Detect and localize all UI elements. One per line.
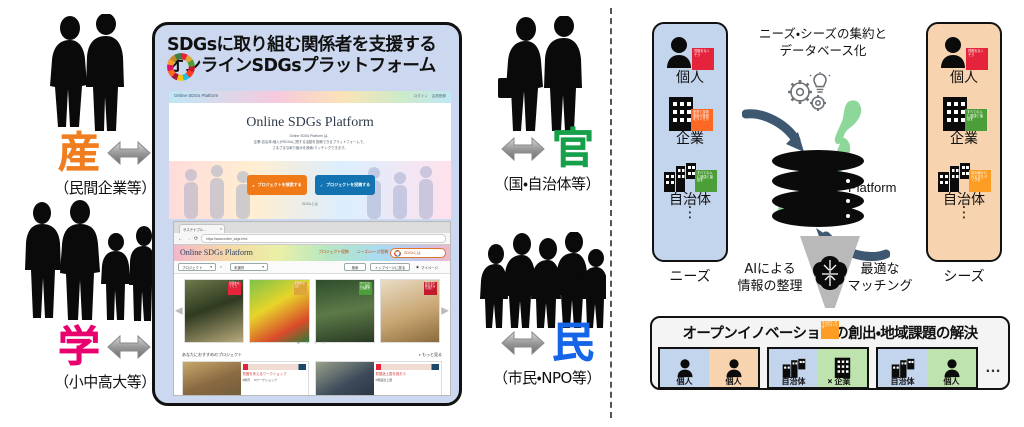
stakeholder-kanji: 民 <box>552 322 594 364</box>
person-icon <box>675 358 695 378</box>
platform-label: Platform <box>848 180 896 195</box>
search-button[interactable]: 検索 <box>344 263 366 271</box>
pair-right: 個人 <box>927 349 976 387</box>
section-divider <box>610 8 612 418</box>
sdg-badge: 住み続けられるまちづくりを <box>969 170 991 192</box>
site-nav: プロジェクト投稿 ニーズ・シーズ投稿 <box>318 250 388 255</box>
nav-item-needs-seeds-post[interactable]: ニーズ・シーズ投稿 <box>357 250 388 255</box>
needs-column: 貧困をなくそう 個人 産業と技術革新の基盤をつくろう 企業 <box>652 22 728 262</box>
stakeholder-min: 民 （市民・NPO等） <box>472 322 622 388</box>
recommended-tags: #教育 #ワークショップ <box>243 378 307 382</box>
sdg-badge: 産業と技術革新の基盤をつくろう <box>691 109 713 131</box>
ai-label-line-1: AIによる <box>722 262 818 279</box>
filter-type-select[interactable]: プロジェクト ▾ <box>178 263 216 271</box>
cross-separator: × <box>220 264 222 269</box>
magnifier-icon: ⌕ <box>419 352 421 357</box>
recommended-thumbnail <box>183 362 241 396</box>
double-headed-arrow-icon <box>106 140 152 166</box>
pair-card[interactable]: 自治体 個人 住み続けられるまちづくりを × <box>876 347 978 389</box>
chevron-left-icon[interactable]: ◀ <box>175 306 183 317</box>
stakeholder-kan: 官 （国・自治体等） <box>472 128 622 194</box>
pair-left: 自治体 <box>769 349 818 387</box>
hero-brand: Online SDGs Platform <box>174 93 218 98</box>
actor-municipality: 住み続けられるまちづくりを 自治体 <box>937 154 991 207</box>
hero-post-button[interactable]: ✓ プロジェクトを投稿する <box>315 175 375 195</box>
actor-company: 産業と技術革新の基盤をつくろう 企業 <box>667 93 713 146</box>
hero-screenshot: Online SDGs Platform ログイン 会員登録 Online SD… <box>169 91 451 219</box>
pair-ellipsis: … <box>985 359 1002 377</box>
city-icon <box>937 162 971 192</box>
sdg-info-label: SDGsとは <box>404 251 421 256</box>
hero-subtitle: Online SDGs Platform は、 企業・自治体・個人がSDGsに関… <box>169 133 451 151</box>
double-headed-arrow-icon <box>500 136 546 162</box>
hero-nav: ログイン 会員登録 <box>414 94 446 99</box>
silhouette-family-people <box>22 200 158 322</box>
silhouette-business-people <box>38 14 142 132</box>
url-input[interactable]: https://www.online_sdgs.html <box>201 234 446 243</box>
browser-window: サステナブル… × ← → ⟳ https://www.online_sdgs.… <box>173 221 451 396</box>
carousel-card[interactable]: すべての人に健康と福祉を <box>315 279 375 343</box>
stakeholder-sublabel: （小中高大等） <box>54 371 156 392</box>
pair-right-label: 個人 <box>726 378 742 386</box>
back-arrow-icon[interactable]: ← <box>178 236 183 242</box>
person-icon <box>942 358 962 378</box>
hero-search-label: プロジェクトを検索する <box>258 182 302 188</box>
tablet-headline: SDGsに取り組む関係者を支援する オンラインSDGsプラットフォーム <box>167 35 459 78</box>
sdg-badge: 貧困をなくそう <box>966 48 988 70</box>
pair-left: 個人 <box>660 349 709 387</box>
sdg-badge: 飢餓をゼロに <box>294 282 307 295</box>
carousel-card[interactable]: 質の高い教育をみんなに <box>380 279 440 343</box>
actor-individual: 貧困をなくそう 個人 <box>666 32 714 85</box>
chevron-down-icon: ▾ <box>210 265 212 269</box>
hero-footer-note: SDGsとは <box>169 201 451 206</box>
chevron-right-icon[interactable]: ▶ <box>441 306 449 317</box>
center-caption-line-2: データベース化 <box>738 43 908 60</box>
more-indicator: ⋮ <box>957 209 972 217</box>
actor-label: 企業 <box>950 132 978 146</box>
pair-card[interactable]: 個人 個人 貧困をなくそう × <box>658 347 760 389</box>
sdg-color-wheel-icon <box>167 53 195 81</box>
pair-left: 自治体 <box>878 349 927 387</box>
hero-search-button[interactable]: ⌕ プロジェクトを検索する <box>247 175 307 195</box>
city-icon <box>663 162 697 192</box>
ai-organize-label: AIによる 情報の整理 <box>722 262 818 296</box>
stakeholder-kanji: 学 <box>58 326 100 368</box>
headline-line-2: オンラインSDGsプラットフォーム <box>167 56 436 77</box>
browser-tab[interactable]: サステナブル… × <box>179 224 225 233</box>
carousel-card[interactable]: 飢餓をゼロに <box>249 279 309 343</box>
recommended-heading: あなたにおすすめのプロジェクト <box>182 352 242 358</box>
recommended-tags: #発展途上国 <box>376 378 440 382</box>
stakeholder-kanji: 官 <box>552 128 594 170</box>
center-caption-line-1: ニーズ・シーズの集約と <box>738 26 908 43</box>
carousel-dots[interactable]: ● ○ ○ ○ <box>174 340 450 346</box>
site-toolbar: プロジェクト ▾ × 未選択 ▾ 検索 トップページに戻る ◉ マイページ <box>174 261 450 274</box>
recommended-title: 貧困を考えるワークショップ <box>243 372 307 376</box>
building-icon <box>834 357 851 378</box>
project-carousel: ◀ ▶ 貧困をなくそう 飢餓をゼロに すべ <box>174 274 450 348</box>
silhouette-citizen-people <box>478 232 606 328</box>
sdg-badge: 貧困をなくそう <box>692 48 714 70</box>
recommended-card[interactable]: 発展途上国を救おう #発展途上国 <box>315 361 442 396</box>
pair-right-label: 個人 <box>944 378 960 386</box>
hero-title: Online SDGs Platform <box>169 115 451 131</box>
carousel-card[interactable]: 貧困をなくそう <box>184 279 244 343</box>
double-headed-arrow-icon <box>106 334 152 360</box>
headline-line-1: SDGsに取り組む関係者を支援する <box>167 35 459 56</box>
mypage-button[interactable]: ◉ マイページ <box>413 263 447 271</box>
sdg-badge: すべての人に健康と福祉を <box>359 282 372 295</box>
sdg-color-wheel-icon <box>394 250 401 257</box>
recommended-section: あなたにおすすめのプロジェクト ⌕ もっと見る 貧困を考えるワークショップ # <box>174 348 450 396</box>
check-icon: ✓ <box>320 183 323 188</box>
site-header: Online SDGs Platform プロジェクト投稿 ニーズ・シーズ投稿 … <box>174 245 450 261</box>
sdg-badge: 質の高い教育をみんなに <box>424 282 437 295</box>
recommended-title: 発展途上国を救おう <box>376 372 440 376</box>
stakeholder-sublabel: （市民・NPO等） <box>493 367 601 388</box>
outcome-banner: オープンイノベーションの創出・地域課題の解決 個人 個人 <box>650 316 1010 390</box>
recommended-card[interactable]: 貧困を考えるワークショップ #教育 #ワークショップ <box>182 361 309 396</box>
silhouette-government-people <box>492 16 596 132</box>
sdg-info-button[interactable]: SDGsとは <box>390 248 446 258</box>
browser-urlbar: ← → ⟳ https://www.online_sdgs.html <box>174 233 450 245</box>
hero-subtitle-3: さまざまな取り組みを検索・マッチングできます。 <box>169 145 451 151</box>
needs-column-label: ニーズ <box>652 266 728 286</box>
stakeholder-kanji: 産 <box>58 132 100 174</box>
browser-tab-label: サステナブル… <box>183 227 207 232</box>
actor-label: 企業 <box>676 132 704 146</box>
sdg-badge: すべての人に健康と福祉を <box>695 170 717 192</box>
stakeholder-sublabel: （国・自治体等） <box>494 173 600 194</box>
double-headed-arrow-icon <box>500 330 546 356</box>
nav-item-project-post[interactable]: プロジェクト投稿 <box>318 250 348 255</box>
actor-label: 個人 <box>950 71 978 85</box>
recommended-thumbnail <box>316 362 374 396</box>
filter-goal-select[interactable]: 未選択 ▾ <box>230 263 268 271</box>
actor-company: すべての人に健康と福祉を 企業 <box>941 93 987 146</box>
match-label-line-2: マッチング <box>832 279 928 296</box>
person-icon <box>724 358 744 378</box>
magnifier-icon: ⌕ <box>252 183 254 188</box>
seeds-column: 貧困をなくそう 個人 すべての人に健康と福祉を 企業 <box>926 22 1002 262</box>
browser-tabbar: サステナブル… × <box>174 222 450 233</box>
actor-label: 個人 <box>676 71 704 85</box>
pair-list: 個人 個人 貧困をなくそう × <box>658 347 1002 389</box>
more-indicator: ⋮ <box>683 209 698 217</box>
ai-label-line-2: 情報の整理 <box>722 279 818 296</box>
pair-right: 個人 <box>709 349 758 387</box>
forward-arrow-icon[interactable]: → <box>186 236 191 242</box>
pair-card[interactable]: 自治体 企業 すべての人に健康と福祉を × <box>767 347 869 389</box>
actor-individual: 貧困をなくそう 個人 <box>940 32 988 85</box>
hero-post-label: プロジェクトを投稿する <box>326 182 370 188</box>
chevron-down-icon: ▾ <box>262 265 264 269</box>
pair-left-label: 個人 <box>677 378 693 386</box>
pair-right: 企業 <box>818 349 867 387</box>
sdg-badge: 貧困をなくそう <box>228 282 241 295</box>
infographic-canvas: 産 （民間企業等） 学 （ <box>0 0 1024 427</box>
seeds-column-label: シーズ <box>926 266 1002 286</box>
reload-icon[interactable]: ⟳ <box>194 236 198 242</box>
recommended-more[interactable]: ⌕ もっと見る <box>419 352 442 358</box>
site-logo[interactable]: Online SDGs Platform <box>180 248 253 257</box>
close-icon[interactable]: × <box>220 227 222 231</box>
sdg-badge: すべての人に健康と福祉を <box>965 109 987 131</box>
sdg-color-strip <box>376 364 440 370</box>
city-icon <box>891 358 915 378</box>
pair-left-label: 自治体 <box>891 378 915 386</box>
sdg-color-strip <box>243 364 307 370</box>
optimal-matching-label: 最適な マッチング <box>832 262 928 296</box>
center-caption: ニーズ・シーズの集約と データベース化 <box>738 26 908 60</box>
stakeholder-sublabel: （民間企業等） <box>54 177 156 198</box>
user-circle-icon: ◉ <box>416 265 419 269</box>
match-label-line-1: 最適な <box>832 262 928 279</box>
back-to-top-button[interactable]: トップページに戻る <box>370 263 410 271</box>
actor-municipality: すべての人に健康と福祉を 自治体 <box>663 154 717 207</box>
tablet-mockup: SDGsに取り組む関係者を支援する オンラインSDGsプラットフォーム Onli… <box>152 22 462 406</box>
recommended-header: あなたにおすすめのプロジェクト ⌕ もっと見る <box>182 352 442 358</box>
pair-left-label: 自治体 <box>782 378 806 386</box>
city-icon <box>782 358 806 378</box>
pair-right-label: 企業 <box>835 378 851 386</box>
hero-people-graphic <box>169 161 451 219</box>
